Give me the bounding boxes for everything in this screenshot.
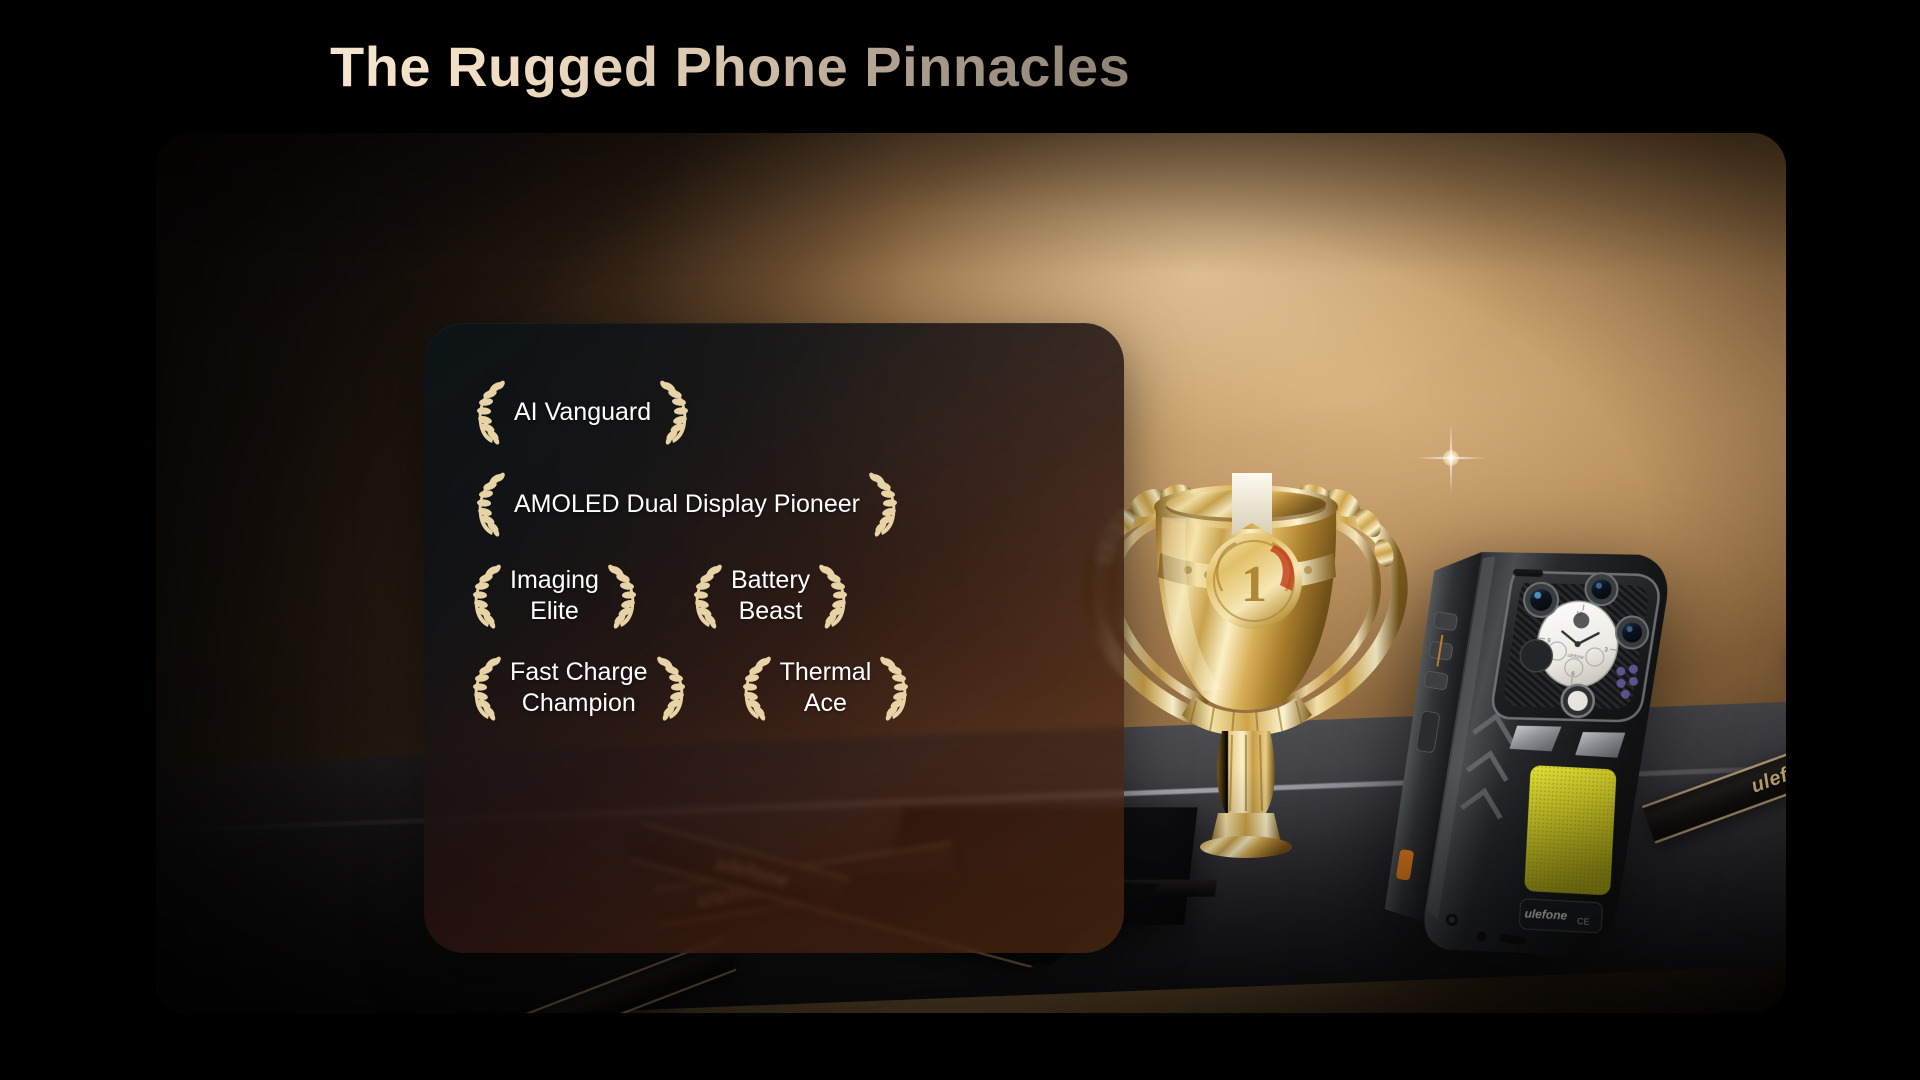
laurel-wreath-icon [656,655,690,721]
laurel-wreath-icon [472,471,506,537]
laurel-wreath-icon [868,471,902,537]
awards-panel: AI Vanguard [424,323,1124,953]
laurel-wreath-icon [607,563,641,629]
laurel-wreath-icon [879,655,913,721]
page-title: The Rugged Phone Pinnacles [330,36,1130,98]
awards-row: Imaging Elite [458,563,1090,629]
award-label: AMOLED Dual Display Pioneer [514,489,860,520]
award-label: Thermal Ace [780,657,872,719]
award-label: Battery Beast [731,565,810,627]
award-badge: AMOLED Dual Display Pioneer [472,471,902,537]
laurel-wreath-icon [468,563,502,629]
award-badge: Fast Charge Champion [468,655,690,721]
laurel-wreath-icon [659,379,693,445]
laurel-wreath-icon [818,563,852,629]
award-label: Fast Charge Champion [510,657,648,719]
award-badge: AI Vanguard [472,379,693,445]
promo-banner: The Rugged Phone Pinnacles ulefone ulefo… [0,0,1920,1080]
award-badge: Imaging Elite [468,563,641,629]
svg-text:1: 1 [1241,556,1267,613]
awards-row: Fast Charge Champion [458,655,1090,721]
award-label: AI Vanguard [514,397,651,428]
laurel-wreath-icon [738,655,772,721]
award-badge: Thermal Ace [738,655,914,721]
awards-row: AI Vanguard [458,379,1090,445]
laurel-wreath-icon [472,379,506,445]
phone-cert-label: CE [1577,916,1590,927]
award-label: Imaging Elite [510,565,599,627]
phone-brand-label: ulefone [1524,906,1568,922]
laurel-wreath-icon [689,563,723,629]
laurel-wreath-icon [468,655,502,721]
award-badge: Battery Beast [689,563,852,629]
awards-row: AMOLED Dual Display Pioneer [458,471,1090,537]
hero-card: ulefone ulefone [156,133,1786,1013]
